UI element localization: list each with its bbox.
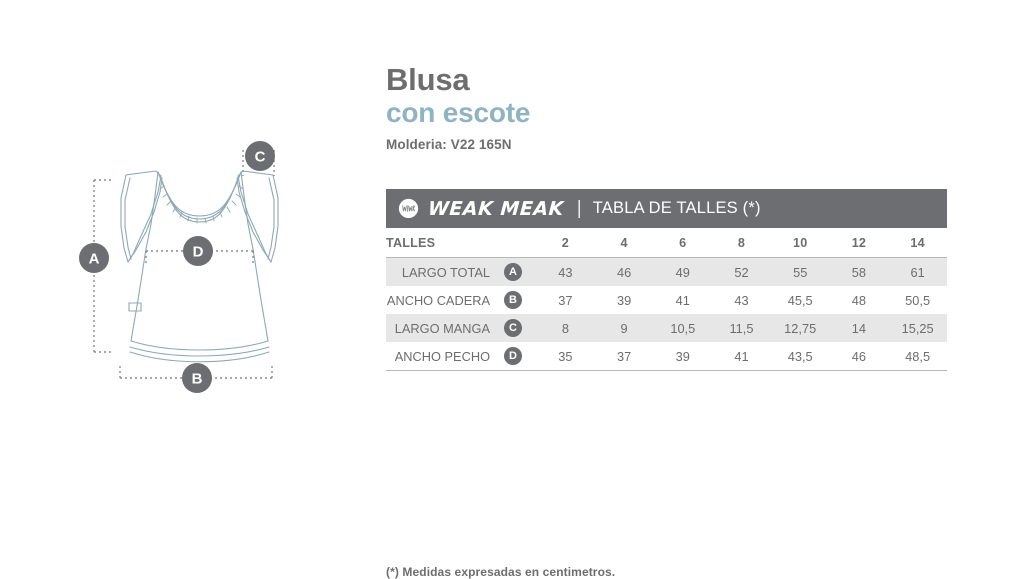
cell-largo-manga-14: 15,25 [888,314,947,342]
cell-ancho-pecho-14: 48,5 [888,342,947,371]
dimension-badge-a-letter: A [89,251,100,268]
brand-name-label: WEAK MEAK [427,198,564,220]
measurement-units-footnote: (*) Medidas expresadas en centimetros. [386,565,615,579]
table-header-row: TALLES 2 4 6 8 10 12 14 [386,228,947,258]
dimension-badge-c-letter: C [255,149,266,166]
badge-letter-d: D [504,347,522,365]
cell-largo-total-6: 49 [653,258,712,287]
dimension-badge-a: A [79,243,109,273]
row-badge-b: B [490,286,536,314]
row-badge-d: D [490,342,536,371]
cell-largo-manga-12: 14 [830,314,889,342]
column-header-badge-spacer [490,228,536,258]
badge-letter-c: C [504,319,522,337]
product-info-panel: Blusa con escote Molderia: V22 165N WEAK… [386,0,966,484]
right-sleeve-inner [237,178,271,262]
hem-top-line [131,341,268,350]
cell-largo-total-2: 43 [536,258,595,287]
cell-ancho-pecho-2: 35 [536,342,595,371]
cell-ancho-cadera-8: 43 [712,286,771,314]
cell-largo-total-12: 58 [830,258,889,287]
page-title: Blusa [386,63,946,96]
dimension-badge-b-letter: B [192,371,203,388]
dimension-badge-c: C [245,141,275,171]
hem-mid-line [130,347,269,356]
cell-largo-manga-10: 12,75 [771,314,830,342]
cell-ancho-pecho-4: 37 [595,342,654,371]
hem-bottom-line [130,352,269,362]
cell-ancho-cadera-2: 37 [536,286,595,314]
size-chart-header: WEAK MEAK | TABLA DE TALLES (*) [386,189,947,228]
cell-ancho-cadera-4: 39 [595,286,654,314]
size-chart-title: TABLA DE TALLES (*) [593,199,761,218]
column-header-size-6: 6 [653,228,712,258]
badge-letter-a: A [504,263,522,281]
column-header-size-4: 4 [595,228,654,258]
cell-ancho-cadera-10: 45,5 [771,286,830,314]
page-subtitle: con escote [386,97,946,128]
cell-largo-manga-6: 10,5 [653,314,712,342]
table-row: LARGO TOTAL A 43 46 49 52 55 58 61 [386,258,947,287]
size-chart: WEAK MEAK | TABLA DE TALLES (*) TALLES 2… [386,189,947,371]
cell-largo-total-8: 52 [712,258,771,287]
garment-label-tag [129,303,141,311]
column-header-size-2: 2 [536,228,595,258]
neckline-mid [160,176,239,219]
cell-ancho-pecho-8: 41 [712,342,771,371]
row-badge-c: C [490,314,536,342]
dimension-lines [94,150,274,380]
badge-letter-b: B [504,291,522,309]
garment-outline [121,171,278,362]
cell-largo-manga-4: 9 [595,314,654,342]
cell-largo-total-4: 46 [595,258,654,287]
cell-ancho-cadera-14: 50,5 [888,286,947,314]
cell-largo-manga-2: 8 [536,314,595,342]
row-label-largo-manga: LARGO MANGA [386,314,490,342]
row-label-ancho-cadera: ANCHO CADERA [386,286,490,314]
right-side-seam [253,249,268,341]
row-badge-a: A [490,258,536,287]
size-chart-table: TALLES 2 4 6 8 10 12 14 LARGO TOTAL A [386,228,947,371]
dimension-badge-d: D [183,236,213,266]
header-divider: | [577,198,582,220]
right-sleeve-outer [238,171,273,262]
column-header-size-10: 10 [771,228,830,258]
garment-drawing-panel: A B C D [0,0,370,484]
cell-ancho-cadera-6: 41 [653,286,712,314]
cell-ancho-pecho-10: 43,5 [771,342,830,371]
title-block: Blusa con escote Molderia: V22 165N [386,63,946,152]
table-row: ANCHO CADERA B 37 39 41 43 45,5 48 50,5 [386,286,947,314]
pattern-code-label: Molderia: V22 165N [386,137,946,152]
row-label-ancho-pecho: ANCHO PECHO [386,342,490,371]
column-header-talles: TALLES [386,228,490,258]
left-sleeve-inner [128,178,162,262]
garment-technical-drawing: A B C D [0,0,370,484]
row-label-largo-total: LARGO TOTAL [386,258,490,287]
cell-largo-total-10: 55 [771,258,830,287]
cell-ancho-cadera-12: 48 [830,286,889,314]
cell-ancho-pecho-6: 39 [653,342,712,371]
brand-logo-icon [398,198,419,219]
dimension-badge-b: B [182,363,212,393]
column-header-size-12: 12 [830,228,889,258]
column-header-size-8: 8 [712,228,771,258]
table-row: ANCHO PECHO D 35 37 39 41 43,5 46 48,5 [386,342,947,371]
cell-largo-total-14: 61 [888,258,947,287]
cell-largo-manga-8: 11,5 [712,314,771,342]
left-side-seam [131,249,146,341]
table-row: LARGO MANGA C 8 9 10,5 11,5 12,75 14 15,… [386,314,947,342]
left-sleeve-edge-2 [125,178,131,259]
cell-ancho-pecho-12: 46 [830,342,889,371]
dimension-badge-d-letter: D [193,244,204,261]
left-sleeve-outer [126,171,161,262]
right-sleeve-edge-2 [268,178,274,259]
column-header-size-14: 14 [888,228,947,258]
